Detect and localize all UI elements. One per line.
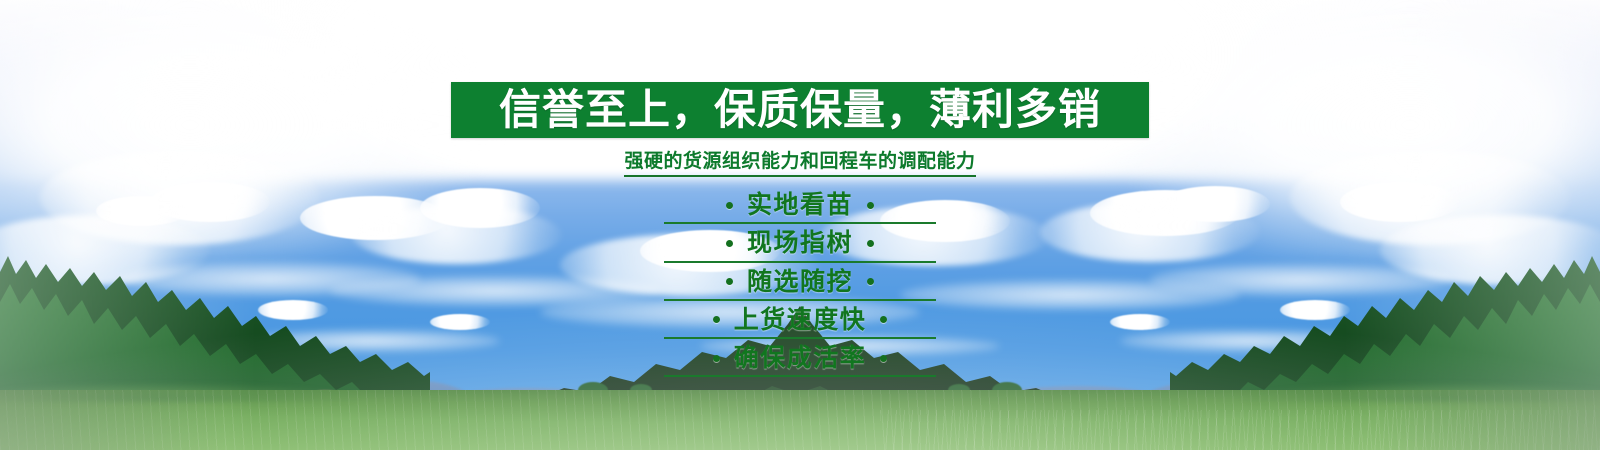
feature-item: 上货速度快: [664, 304, 936, 339]
bullet-dot-icon: [726, 278, 733, 285]
bullet-dot-icon: [713, 355, 720, 362]
feature-item: 现场指树: [664, 227, 936, 262]
feature-item: 随选随挖: [664, 266, 936, 301]
banner-content: 信誉至上，保质保量，薄利多销 强硬的货源组织能力和回程车的调配能力 实地看苗 现…: [0, 0, 1600, 450]
feature-label: 随选随挖: [747, 269, 853, 295]
bullet-dot-icon: [880, 316, 887, 323]
bullet-dot-icon: [726, 240, 733, 247]
feature-item: 实地看苗: [664, 189, 936, 224]
feature-label: 现场指树: [747, 230, 853, 256]
bullet-dot-icon: [713, 316, 720, 323]
feature-label: 确保成活率: [734, 345, 867, 371]
feature-label: 实地看苗: [747, 192, 853, 218]
headline-text: 信誉至上，保质保量，薄利多销: [499, 89, 1101, 131]
bullet-dot-icon: [880, 355, 887, 362]
promo-banner: 信誉至上，保质保量，薄利多销 强硬的货源组织能力和回程车的调配能力 实地看苗 现…: [0, 0, 1600, 450]
bullet-dot-icon: [867, 240, 874, 247]
headline-banner: 信誉至上，保质保量，薄利多销: [451, 82, 1149, 138]
bullet-dot-icon: [867, 278, 874, 285]
feature-list: 实地看苗 现场指树 随选随挖 上货速度快 确保成活率: [664, 189, 936, 380]
subtitle-text: 强硬的货源组织能力和回程车的调配能力: [624, 146, 975, 177]
bullet-dot-icon: [867, 202, 874, 209]
feature-label: 上货速度快: [734, 307, 867, 333]
bullet-dot-icon: [726, 202, 733, 209]
feature-item: 确保成活率: [664, 342, 936, 377]
